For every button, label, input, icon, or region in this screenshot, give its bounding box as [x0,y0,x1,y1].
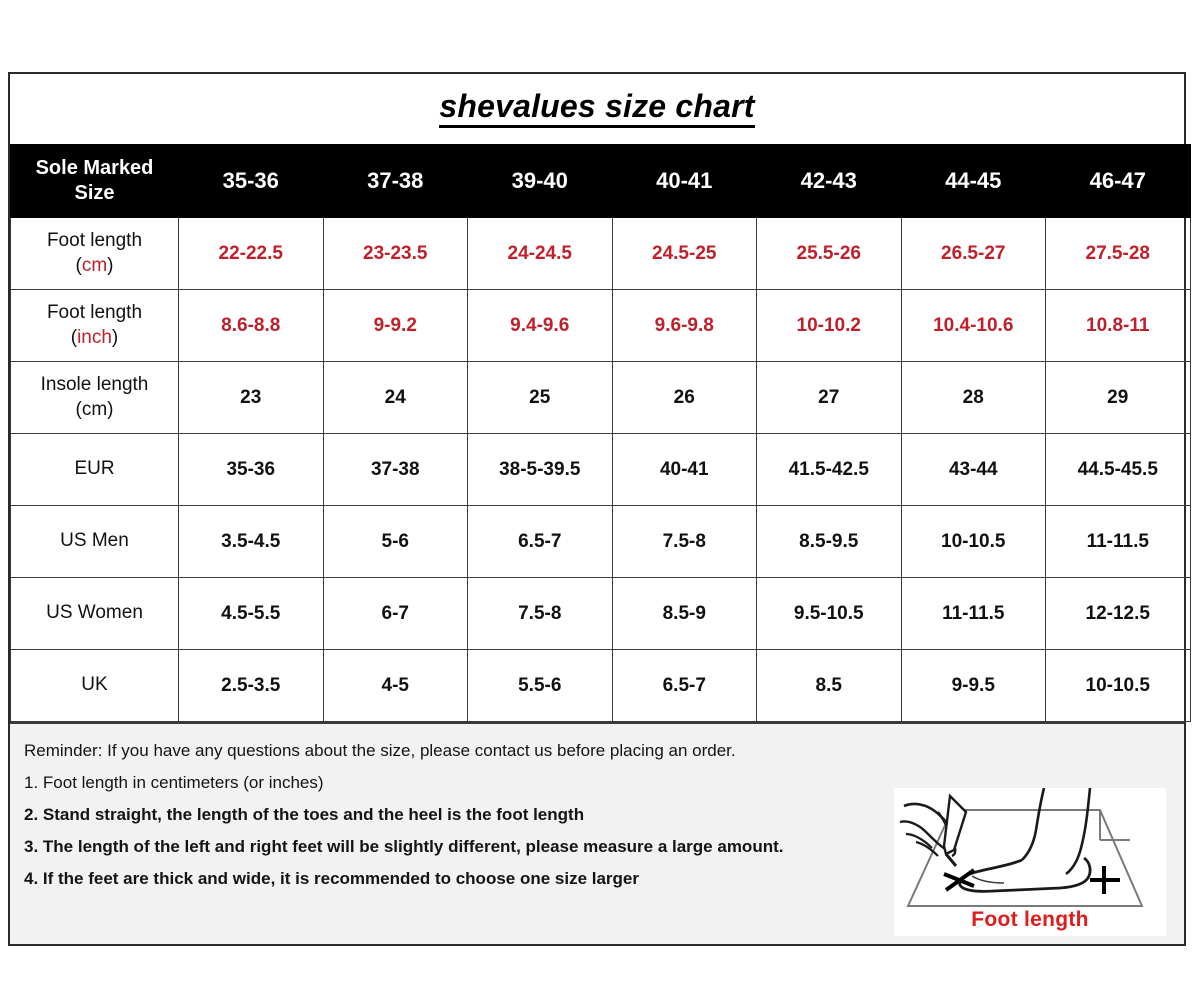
row-label-unit-close: ) [107,255,113,276]
table-cell: 25.5-26 [757,218,902,290]
row-label-unit-line: (cm) [13,254,176,279]
header-size-col-1: 37-38 [323,145,468,218]
table-row: EUR35-3637-3838-5-39.540-4141.5-42.543-4… [11,434,1191,506]
table-cell: 27 [757,362,902,434]
table-cell: 6.5-7 [468,506,613,578]
table-cell: 41.5-42.5 [757,434,902,506]
table-cell: 6.5-7 [612,650,757,722]
table-head: Sole Marked Size 35-36 37-38 39-40 40-41… [11,145,1191,218]
table-cell: 9.6-9.8 [612,290,757,362]
table-row: Insole length(cm)23242526272829 [11,362,1191,434]
table-cell: 10-10.2 [757,290,902,362]
table-cell: 44.5-45.5 [1046,434,1191,506]
table-cell: 11-11.5 [1046,506,1191,578]
row-label-main: Foot length [47,230,142,251]
table-cell: 43-44 [901,434,1046,506]
hand-finger-2 [906,834,932,848]
table-cell: 10.4-10.6 [901,290,1046,362]
header-size-col-3: 40-41 [612,145,757,218]
reminder-note: Reminder: If you have any questions abou… [24,742,904,759]
table-cell: 24 [323,362,468,434]
table-cell: 28 [901,362,1046,434]
row-label-main: Insole length [41,374,149,395]
table-row: UK2.5-3.54-55.5-66.5-78.59-9.510-10.5 [11,650,1191,722]
row-label-unit-line: (cm) [13,398,176,423]
header-label-line1: Sole Marked [36,157,154,179]
illustration-caption: Foot length [894,908,1166,932]
table-cell: 25 [468,362,613,434]
table-row: Foot length(cm)22-22.523-23.524-24.524.5… [11,218,1191,290]
table-cell: 24.5-25 [612,218,757,290]
table-cell: 8.5 [757,650,902,722]
row-label-main: EUR [74,458,114,479]
table-cell: 35-36 [179,434,324,506]
table-body: Foot length(cm)22-22.523-23.524-24.524.5… [11,218,1191,722]
row-label-main: Foot length [47,302,142,323]
table-cell: 26 [612,362,757,434]
row-label-main: US Women [46,602,143,623]
header-label-line2: Size [74,182,114,204]
table-cell: 9.4-9.6 [468,290,613,362]
reminder-note: 1. Foot length in centimeters (or inches… [24,774,904,791]
table-cell: 9.5-10.5 [757,578,902,650]
reminder-note: 2. Stand straight, the length of the toe… [24,806,904,823]
row-label-unit: inch [77,327,112,348]
header-size-col-4: 42-43 [757,145,902,218]
row-label-foot-length: Foot length(cm) [11,218,179,290]
table-header-row: Sole Marked Size 35-36 37-38 39-40 40-41… [11,145,1191,218]
table-cell: 9-9.5 [901,650,1046,722]
table-cell: 8.5-9.5 [757,506,902,578]
table-cell: 6-7 [323,578,468,650]
reminder-note: 3. The length of the left and right feet… [24,838,904,855]
foot-measure-illustration: Foot length [894,788,1166,936]
table-cell: 8.5-9 [612,578,757,650]
row-label-eur: EUR [11,434,179,506]
table-cell: 38-5-39.5 [468,434,613,506]
table-cell: 4.5-5.5 [179,578,324,650]
reminder-note-list: Reminder: If you have any questions abou… [24,742,904,887]
row-label-main: US Men [60,530,129,551]
header-size-col-6: 46-47 [1046,145,1191,218]
table-cell: 4-5 [323,650,468,722]
table-cell: 40-41 [612,434,757,506]
reminder-note: 4. If the feet are thick and wide, it is… [24,870,904,887]
row-label-unit: cm [82,399,107,420]
row-label-uk: UK [11,650,179,722]
table-cell: 10-10.5 [1046,650,1191,722]
row-label-us-men: US Men [11,506,179,578]
reminder-footer: Reminder: If you have any questions abou… [10,722,1184,944]
table-cell: 10.8-11 [1046,290,1191,362]
table-cell: 2.5-3.5 [179,650,324,722]
row-label-unit-close: ) [112,327,118,348]
table-cell: 26.5-27 [901,218,1046,290]
table-cell: 7.5-8 [468,578,613,650]
table-cell: 9-9.2 [323,290,468,362]
table-row: US Women4.5-5.56-77.5-88.5-99.5-10.511-1… [11,578,1191,650]
table-cell: 37-38 [323,434,468,506]
table-row: Foot length(inch)8.6-8.89-9.29.4-9.69.6-… [11,290,1191,362]
header-size-col-5: 44-45 [901,145,1046,218]
table-cell: 11-11.5 [901,578,1046,650]
table-cell: 12-12.5 [1046,578,1191,650]
header-size-col-0: 35-36 [179,145,324,218]
size-chart-table: Sole Marked Size 35-36 37-38 39-40 40-41… [10,144,1191,722]
header-sole-marked-size: Sole Marked Size [11,145,179,218]
table-cell: 7.5-8 [612,506,757,578]
chart-title-bar: shevalues size chart [10,74,1184,144]
row-label-unit-line: (inch) [13,326,176,351]
table-row: US Men3.5-4.55-66.5-77.5-88.5-9.510-10.5… [11,506,1191,578]
table-cell: 10-10.5 [901,506,1046,578]
size-chart-page: shevalues size chart Sole Marked Size 35… [0,0,1200,1000]
table-cell: 3.5-4.5 [179,506,324,578]
row-label-unit: cm [82,255,107,276]
table-cell: 22-22.5 [179,218,324,290]
table-cell: 27.5-28 [1046,218,1191,290]
row-label-insole-length: Insole length(cm) [11,362,179,434]
header-size-col-2: 39-40 [468,145,613,218]
size-chart-card: shevalues size chart Sole Marked Size 35… [8,72,1186,946]
table-cell: 5-6 [323,506,468,578]
row-label-main: UK [81,674,107,695]
table-cell: 8.6-8.8 [179,290,324,362]
row-label-us-women: US Women [11,578,179,650]
table-cell: 5.5-6 [468,650,613,722]
table-cell: 23-23.5 [323,218,468,290]
page-title: shevalues size chart [439,90,754,129]
row-label-foot-length: Foot length(inch) [11,290,179,362]
table-cell: 29 [1046,362,1191,434]
row-label-unit-close: ) [107,399,113,420]
table-cell: 24-24.5 [468,218,613,290]
table-cell: 23 [179,362,324,434]
